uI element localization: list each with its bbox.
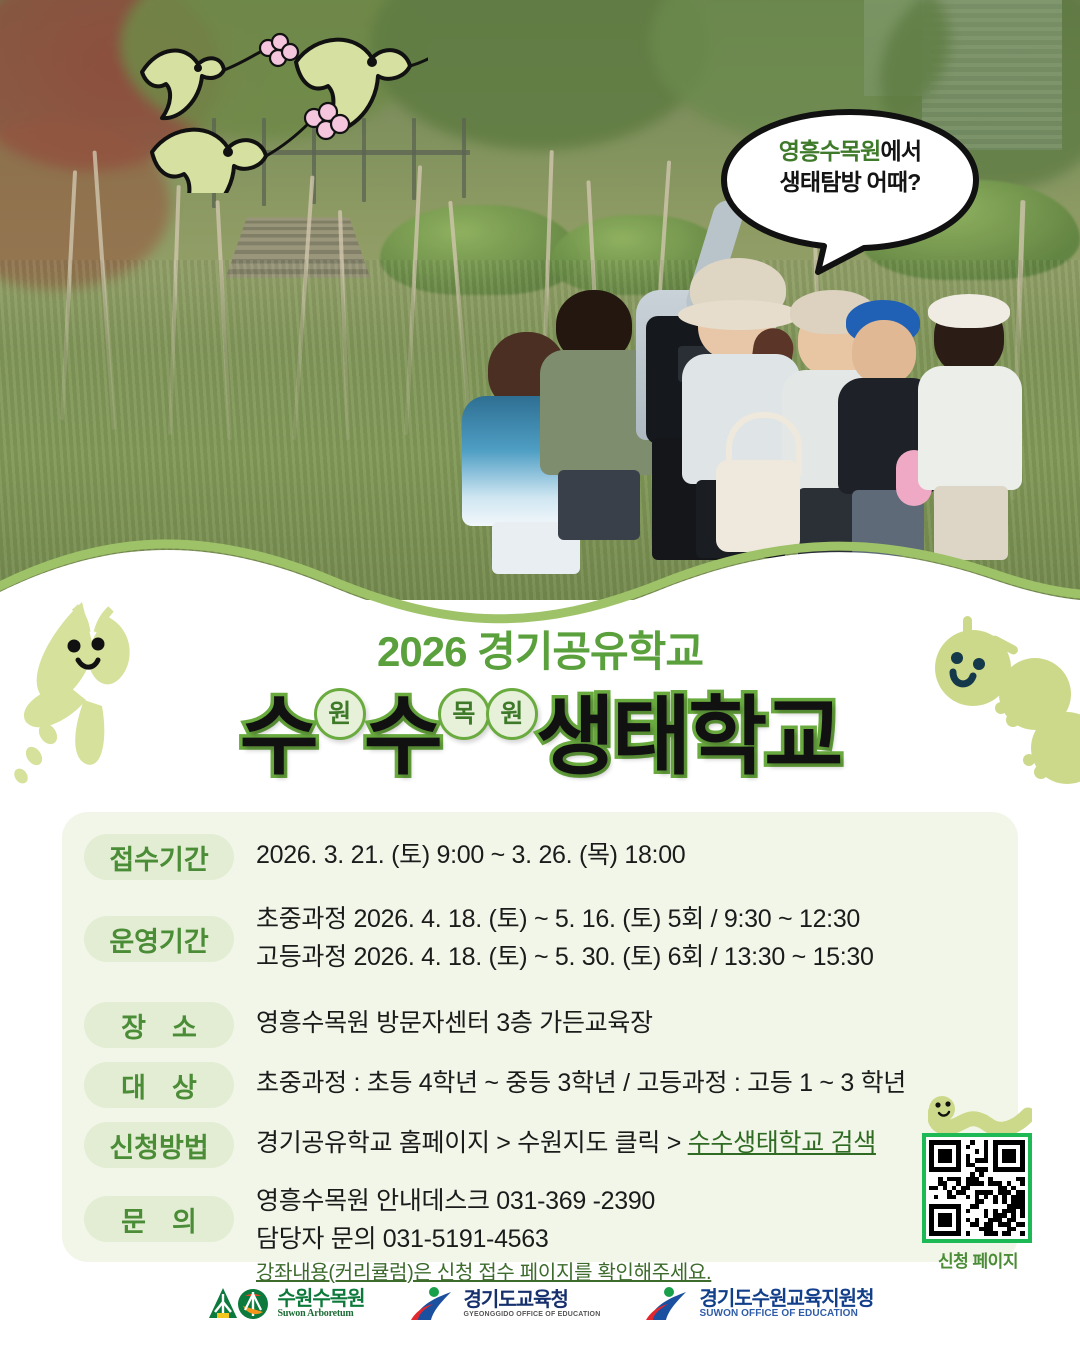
- speech-line2: 생태탐방 어때?: [780, 169, 921, 195]
- qr-code-block[interactable]: 신청 페이지: [922, 1133, 1034, 1272]
- bird-medium-icon: [152, 130, 266, 193]
- row-value-line: 담당자 문의 031-5191-4563: [256, 1221, 711, 1259]
- row-value-line: 영흥수목원 안내데스크 031-369 -2390: [256, 1183, 711, 1221]
- apply-path-text: 경기공유학교 홈페이지 > 수원지도 클릭 >: [256, 1129, 688, 1157]
- row-values: 초중과정 2026. 4. 18. (토) ~ 5. 16. (토) 5회 / …: [256, 898, 874, 976]
- logo-gyeonggi-education: 경기도교육청 GYEONGGIDO OFFICE OF EDUCATION: [409, 1286, 601, 1322]
- row-value-line: 경기공유학교 홈페이지 > 수원지도 클릭 > 수수생태학교 검색: [256, 1125, 876, 1163]
- row-value-line: 영흥수목원 방문자센터 3층 가든교육장: [256, 1005, 653, 1043]
- logo-name-en: SUWON OFFICE OF EDUCATION: [699, 1309, 873, 1319]
- fence-rail: [462, 118, 466, 198]
- bird-small-icon: [142, 51, 224, 119]
- info-row-신청방법: 신청방법 경기공유학교 홈페이지 > 수원지도 클릭 > 수수생태학교 검색: [84, 1122, 876, 1168]
- person-swoosh-mark-icon: [409, 1286, 455, 1322]
- logo-text: 경기도교육청 GYEONGGIDO OFFICE OF EDUCATION: [464, 1290, 601, 1318]
- info-panel: 접수기간 2026. 3. 21. (토) 9:00 ~ 3. 26. (목) …: [62, 812, 1018, 1262]
- blossom-stem: [266, 122, 310, 156]
- info-row-대상: 대상 초중과정 : 초등 4학년 ~ 중등 3학년 / 고등과정 : 고등 1 …: [84, 1062, 906, 1108]
- logo-text: 수원수목원 Suwon Arboretum: [278, 1289, 365, 1320]
- row-value-line: 초중과정 : 초등 4학년 ~ 중등 3학년 / 고등과정 : 고등 1 ~ 3…: [256, 1065, 906, 1103]
- title-badge-mok: 목: [438, 688, 490, 740]
- speech-bubble-text: 영흥수목원에서 생태탐방 어때?: [740, 136, 960, 199]
- info-row-운영기간: 운영기간 초중과정 2026. 4. 18. (토) ~ 5. 16. (토) …: [84, 898, 874, 976]
- main-title: 수원수목원생태학교: [0, 666, 1080, 791]
- bird-decorations: [128, 28, 428, 193]
- row-values: 경기공유학교 홈페이지 > 수원지도 클릭 > 수수생태학교 검색: [256, 1122, 876, 1163]
- bird-eye: [194, 64, 202, 72]
- qr-modules: [929, 1140, 1025, 1236]
- student-head: [852, 320, 916, 384]
- info-row-장소: 장소 영흥수목원 방문자센터 3층 가든교육장: [84, 1002, 653, 1048]
- qr-caption: 신청 페이지: [922, 1247, 1034, 1272]
- logo-suwon-office-education: 경기도수원교육지원청 SUWON OFFICE OF EDUCATION: [644, 1286, 873, 1322]
- worm-eye: [945, 1101, 950, 1106]
- tote-handle: [726, 412, 802, 476]
- logo-name-en: Suwon Arboretum: [278, 1309, 365, 1319]
- blossom-stem: [224, 50, 264, 70]
- bird-eye: [223, 147, 233, 157]
- row-label-pill: 신청방법: [84, 1122, 234, 1168]
- worm-eye: [935, 1102, 940, 1107]
- row-value-line: 고등과정 2026. 4. 18. (토) ~ 5. 30. (토) 6회 / …: [256, 939, 874, 977]
- logo-name-ko: 경기도교육청: [464, 1290, 601, 1310]
- student-torso: [918, 366, 1022, 490]
- title-part-2: 수: [364, 689, 440, 785]
- bird-eye: [367, 57, 377, 67]
- footer-logos: 수원수목원 Suwon Arboretum 경기도교육청 GYEONGGIDO …: [0, 1272, 1080, 1336]
- title-badge-won: 원: [314, 688, 366, 740]
- title-part-1: 수: [240, 689, 316, 785]
- title-block: 2026 경기공유학교 수원수목원생태학교: [0, 600, 1080, 805]
- row-label-pill: 접수기간: [84, 834, 234, 880]
- row-values: 영흥수목원 방문자센터 3층 가든교육장: [256, 1002, 653, 1043]
- blossom-stem: [410, 50, 428, 66]
- row-label-pill: 운영기간: [84, 916, 234, 962]
- row-values: 초중과정 : 초등 4학년 ~ 중등 3학년 / 고등과정 : 고등 1 ~ 3…: [256, 1062, 906, 1103]
- apply-search-link[interactable]: 수수생태학교 검색: [688, 1129, 876, 1157]
- row-label-pill: 대상: [84, 1062, 234, 1108]
- logo-name-en: GYEONGGIDO OFFICE OF EDUCATION: [464, 1311, 601, 1318]
- logo-text: 경기도수원교육지원청 SUWON OFFICE OF EDUCATION: [699, 1289, 873, 1320]
- white-cap: [928, 294, 1010, 328]
- row-label-pill: 장소: [84, 1002, 234, 1048]
- poster-root: 영흥수목원에서 생태탐방 어때?: [0, 0, 1080, 1350]
- title-badge-won2: 원: [486, 688, 538, 740]
- speech-rest: 에서: [881, 138, 922, 164]
- hero-photo: 영흥수목원에서 생태탐방 어때?: [0, 0, 1080, 600]
- row-value-line: 2026. 3. 21. (토) 9:00 ~ 3. 26. (목) 18:00: [256, 837, 685, 875]
- qr-code-image[interactable]: [922, 1133, 1032, 1243]
- title-part-3: 생태학교: [536, 689, 840, 785]
- speech-highlight: 영흥수목원: [779, 138, 881, 164]
- person-swoosh-mark-icon: [644, 1286, 690, 1322]
- row-label-pill: 문의: [84, 1196, 234, 1242]
- info-row-접수기간: 접수기간 2026. 3. 21. (토) 9:00 ~ 3. 26. (목) …: [84, 834, 685, 880]
- logo-name-ko: 수원수목원: [278, 1289, 365, 1309]
- logo-name-ko: 경기도수원교육지원청: [699, 1289, 873, 1309]
- arboretum-trees-mark-icon: [207, 1286, 269, 1322]
- row-values: 2026. 3. 21. (토) 9:00 ~ 3. 26. (목) 18:00: [256, 834, 685, 875]
- logo-suwon-arboretum: 수원수목원 Suwon Arboretum: [207, 1286, 365, 1322]
- row-value-line: 초중과정 2026. 4. 18. (토) ~ 5. 16. (토) 5회 / …: [256, 901, 874, 939]
